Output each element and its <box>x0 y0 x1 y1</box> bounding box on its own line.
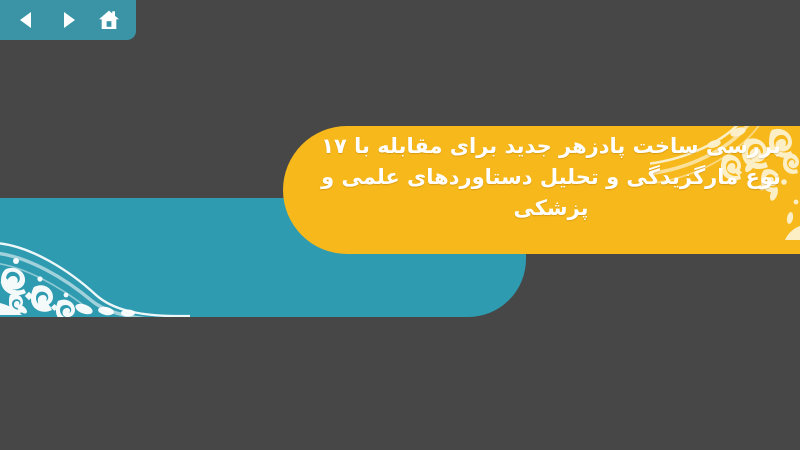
next-slide-button[interactable] <box>53 5 83 35</box>
title-line-3: پزشکی <box>316 193 786 224</box>
home-icon <box>97 8 121 32</box>
triangle-right-icon <box>57 9 79 31</box>
slide-canvas: بررسی ساخت پادزهر جدید برای مقابله با ۱۷… <box>0 0 800 450</box>
presentation-navigation <box>0 0 136 40</box>
title-banner: بررسی ساخت پادزهر جدید برای مقابله با ۱۷… <box>283 126 800 254</box>
previous-slide-button[interactable] <box>12 5 42 35</box>
home-button[interactable] <box>94 5 124 35</box>
title-line-2: نوع مارگزیدگی و تحلیل دستاوردهای علمی و <box>316 162 786 193</box>
title-line-1: بررسی ساخت پادزهر جدید برای مقابله با ۱۷ <box>316 131 786 162</box>
arabesque-corner-ornament <box>0 209 190 317</box>
triangle-left-icon <box>16 9 38 31</box>
slide-title: بررسی ساخت پادزهر جدید برای مقابله با ۱۷… <box>316 131 786 224</box>
